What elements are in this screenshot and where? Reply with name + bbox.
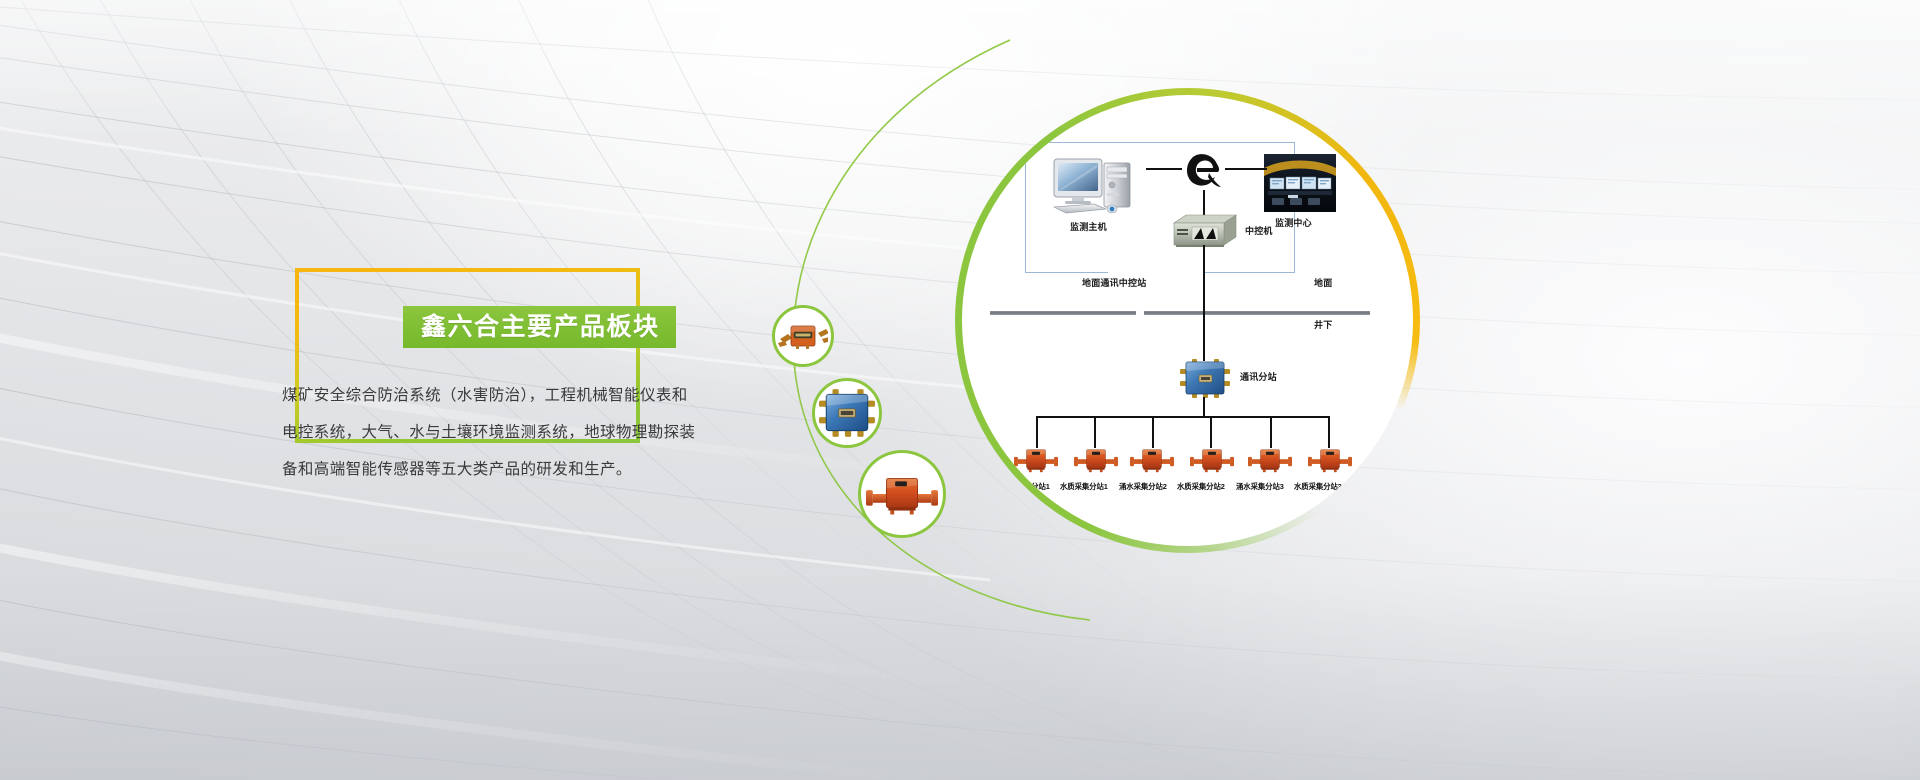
wire-drop-6 [1328, 416, 1330, 448]
collection-station-icon-3 [1130, 445, 1174, 475]
label-underground: 井下 [1314, 321, 1332, 331]
system-diagram-composition: 监测主机 [880, 40, 1920, 780]
product-circle-orange[interactable] [772, 305, 834, 367]
intro-line-2: 电控系统，大气、水与土壤环境监测系统，地球物理勘探装 [282, 414, 752, 451]
diagram-ring: 监测主机 [955, 88, 1420, 553]
product-circle-blue[interactable] [812, 378, 882, 448]
label-monitor-host: 监测主机 [1070, 223, 1107, 233]
collection-station-icon-2 [1074, 445, 1118, 475]
section-title-banner: 鑫六合主要产品板块 [403, 306, 676, 348]
collection-station-icon-6 [1308, 445, 1352, 475]
wire-drop-3 [1152, 416, 1154, 448]
collection-station-icon-1 [1014, 445, 1058, 475]
red-device-icon [865, 470, 939, 518]
monitor-host-icon [1050, 155, 1146, 217]
label-surface: 地面 [1314, 279, 1332, 289]
wire-drop-4 [1210, 416, 1212, 448]
label-central-control: 中控机 [1245, 227, 1273, 237]
label-collection-station-5: 涌水采集分站3 [1236, 481, 1284, 492]
intro-panel: 鑫六合主要产品板块 煤矿安全综合防治系统（水害防治），工程机械智能仪表和 电控系… [248, 222, 808, 452]
surface-station-box-bottom-right [1204, 272, 1295, 273]
label-collection-station-4: 水质采集分站2 [1177, 481, 1225, 492]
comm-substation-icon [1178, 357, 1232, 399]
label-collection-station-2: 水质采集分站1 [1060, 481, 1108, 492]
diagram-ring-inner: 监测主机 [962, 95, 1413, 546]
intro-line-3: 备和高端智能传感器等五大类产品的研发和生产。 [282, 451, 752, 488]
wire-drop-1 [1036, 416, 1038, 448]
collection-station-icon-4 [1190, 445, 1234, 475]
blue-device-icon [818, 388, 876, 438]
intro-paragraph: 煤矿安全综合防治系统（水害防治），工程机械智能仪表和 电控系统，大气、水与土壤环… [282, 377, 752, 488]
label-comm-substation: 通讯分站 [1240, 373, 1277, 383]
wire-cc-to-substation [1203, 245, 1205, 361]
monitor-center-icon [1264, 154, 1336, 214]
orange-device-icon [778, 311, 828, 361]
product-circle-red[interactable] [858, 450, 946, 538]
wire-internet-to-center [1225, 168, 1267, 170]
page-title: 鑫六合主要产品板块 [421, 315, 660, 340]
label-monitor-center: 监测中心 [1275, 219, 1312, 229]
label-collection-station-3: 涌水采集分站2 [1119, 481, 1167, 492]
ground-surface-line [990, 311, 1370, 315]
wire-drop-2 [1094, 416, 1096, 448]
mine-water-monitoring-diagram: 监测主机 [962, 95, 1413, 546]
ground-line-gap [1136, 311, 1144, 315]
wire-substation-down [1203, 397, 1205, 417]
surface-station-box-bottom-left [1025, 272, 1108, 273]
intro-line-1: 煤矿安全综合防治系统（水害防治），工程机械智能仪表和 [282, 377, 752, 414]
internet-e-icon [1183, 149, 1225, 193]
wire-host-to-internet [1146, 168, 1182, 170]
wire-drop-5 [1270, 416, 1272, 448]
collection-station-icon-5 [1248, 445, 1292, 475]
label-collection-station-6: 水质采集分站3 [1294, 481, 1342, 492]
wire-station-bus [1036, 416, 1330, 418]
label-surface-comm-station: 地面通讯中控站 [1082, 279, 1146, 289]
label-collection-station-1: 涌水采集分站1 [1002, 481, 1050, 492]
